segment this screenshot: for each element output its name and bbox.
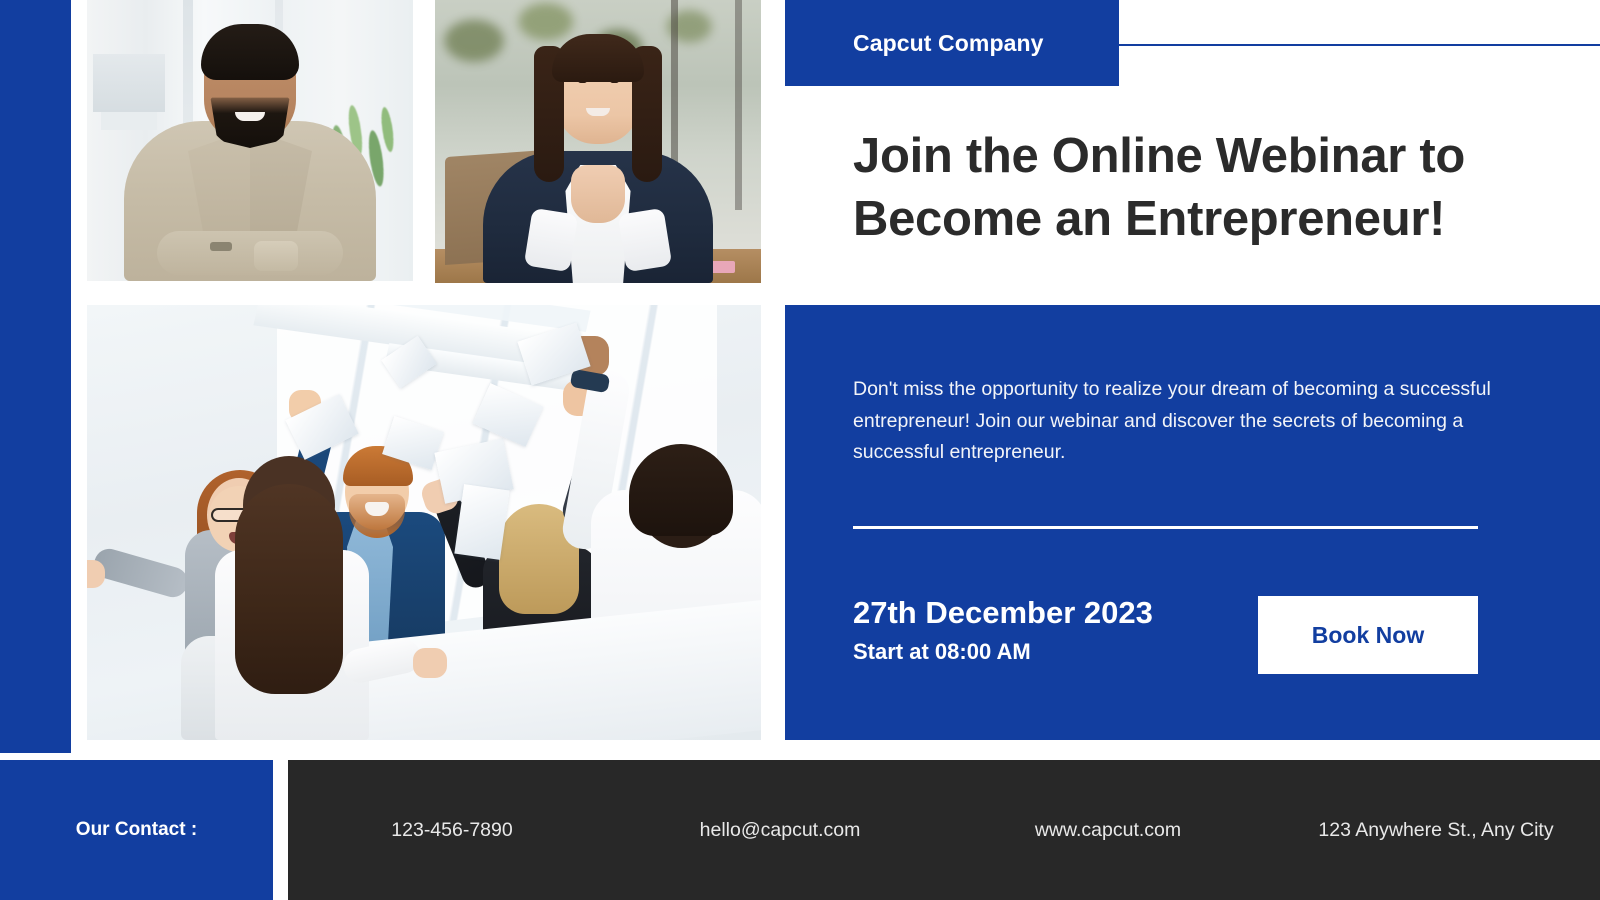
- contact-phone[interactable]: 123-456-7890: [288, 819, 616, 842]
- book-now-button[interactable]: Book Now: [1258, 596, 1478, 674]
- contact-label: Our Contact :: [76, 819, 197, 841]
- event-date: 27th December 2023: [853, 594, 1153, 631]
- book-now-label: Book Now: [1312, 622, 1424, 649]
- badge-rule-divider: [1119, 44, 1600, 46]
- contact-address: 123 Anywhere St., Any City: [1272, 819, 1600, 842]
- contact-bar: 123-456-7890 hello@capcut.com www.capcut…: [288, 760, 1600, 900]
- event-schedule: 27th December 2023 Start at 08:00 AM: [853, 594, 1153, 665]
- company-badge: Capcut Company: [785, 0, 1119, 86]
- webinar-promo-poster: Capcut Company Join the Online Webinar t…: [0, 0, 1600, 900]
- event-time: Start at 08:00 AM: [853, 639, 1153, 665]
- contact-website[interactable]: www.capcut.com: [944, 819, 1272, 842]
- contact-email[interactable]: hello@capcut.com: [616, 819, 944, 842]
- photo-businesswoman-laptop: [435, 0, 761, 283]
- description-text: Don't miss the opportunity to realize yo…: [853, 374, 1498, 469]
- details-panel: [785, 305, 1600, 740]
- page-title: Join the Online Webinar to Become an Ent…: [853, 125, 1513, 250]
- team-person-foreground-woman: [207, 440, 377, 740]
- company-name: Capcut Company: [853, 30, 1044, 57]
- panel-divider: [853, 526, 1478, 529]
- contact-label-block: Our Contact :: [0, 760, 273, 900]
- headline-line-2: Become an Entrepreneur!: [853, 188, 1513, 251]
- photo-team-celebration: [87, 305, 761, 740]
- headline-line-1: Join the Online Webinar to: [853, 125, 1513, 188]
- photo-businessman-portrait: [87, 0, 413, 281]
- left-accent-stripe: [0, 0, 71, 753]
